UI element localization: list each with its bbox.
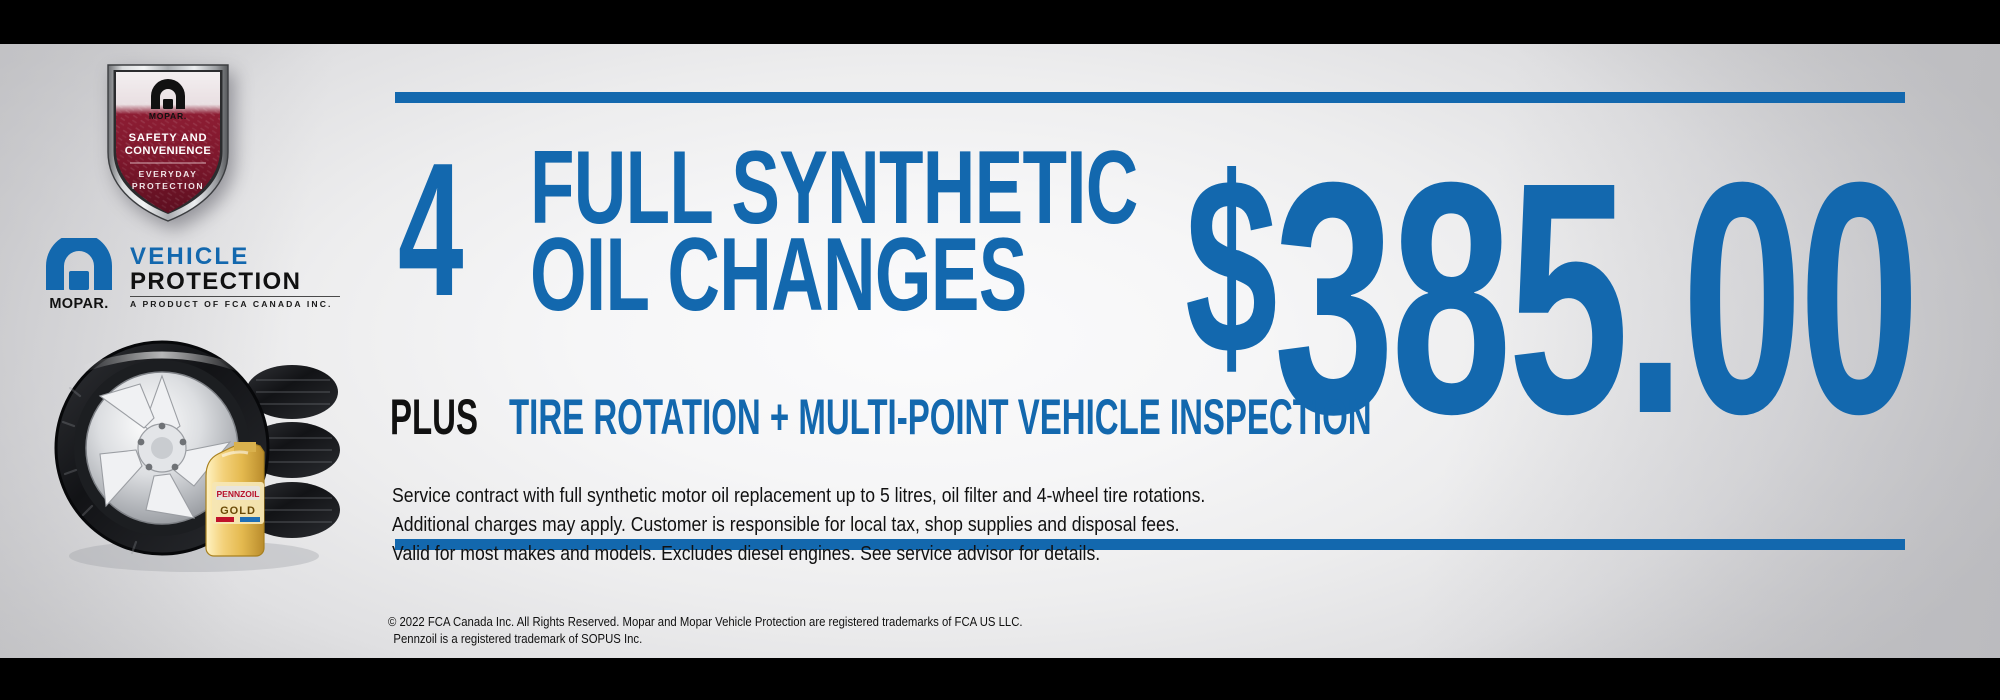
headline-line-2: OIL CHANGES xyxy=(530,231,1138,320)
copyright-line-2: Pennzoil is a registered trademark of SO… xyxy=(388,631,1198,648)
offer-quantity: 4 xyxy=(398,156,462,304)
copyright-line-1: © 2022 FCA Canada Inc. All Rights Reserv… xyxy=(388,614,1198,631)
mopar-vehicle-protection-logo: MOPAR. VEHICLE PROTECTION A PRODUCT OF F… xyxy=(40,236,340,314)
offer-headline: FULL SYNTHETIC OIL CHANGES xyxy=(530,144,1398,321)
logo-tagline: A PRODUCT OF FCA CANADA INC. xyxy=(130,299,340,309)
logo-protection-word: PROTECTION xyxy=(130,270,340,294)
offer-plus-row: PLUS TIRE ROTATION + MULTI-POINT VEHICLE… xyxy=(390,392,1816,442)
svg-text:MOPAR.: MOPAR. xyxy=(49,296,108,312)
letterbox-bar-bottom xyxy=(0,658,2000,700)
divider-rule-top xyxy=(395,92,1905,103)
svg-text:SAFETY AND: SAFETY AND xyxy=(129,132,208,144)
mopar-shield-badge-icon: MOPAR. SAFETY AND CONVENIENCE EVERYDAY P… xyxy=(104,62,232,222)
logo-vehicle-word: VEHICLE xyxy=(130,245,340,269)
svg-text:EVERYDAY: EVERYDAY xyxy=(139,169,198,179)
banner-canvas: MOPAR. SAFETY AND CONVENIENCE EVERYDAY P… xyxy=(0,44,2000,658)
svg-text:PROTECTION: PROTECTION xyxy=(132,181,204,191)
disclaimer-text: Service contract with full synthetic mot… xyxy=(392,481,1232,568)
disclaimer-line: Service contract with full synthetic mot… xyxy=(392,481,1114,510)
copyright-text: © 2022 FCA Canada Inc. All Rights Reserv… xyxy=(388,614,1288,649)
logo-divider xyxy=(130,296,340,297)
disclaimer-line: Additional charges may apply. Customer i… xyxy=(392,510,1114,539)
plus-label: PLUS xyxy=(390,392,478,442)
letterbox-bar-top xyxy=(0,0,2000,44)
mopar-omega-icon: MOPAR. xyxy=(40,238,118,312)
disclaimer-line: Valid for most makes and models. Exclude… xyxy=(392,539,1114,568)
promo-banner: MOPAR. SAFETY AND CONVENIENCE EVERYDAY P… xyxy=(0,0,2000,700)
brand-column: MOPAR. SAFETY AND CONVENIENCE EVERYDAY P… xyxy=(0,44,380,658)
svg-text:PENNZOIL: PENNZOIL xyxy=(217,489,260,499)
svg-text:MOPAR.: MOPAR. xyxy=(149,111,187,121)
svg-text:CONVENIENCE: CONVENIENCE xyxy=(125,145,212,157)
svg-text:GOLD: GOLD xyxy=(220,505,256,517)
plus-detail: TIRE ROTATION + MULTI-POINT VEHICLE INSP… xyxy=(509,392,1372,442)
tires-and-oil-bottle-image: PENNZOIL GOLD xyxy=(44,330,374,580)
